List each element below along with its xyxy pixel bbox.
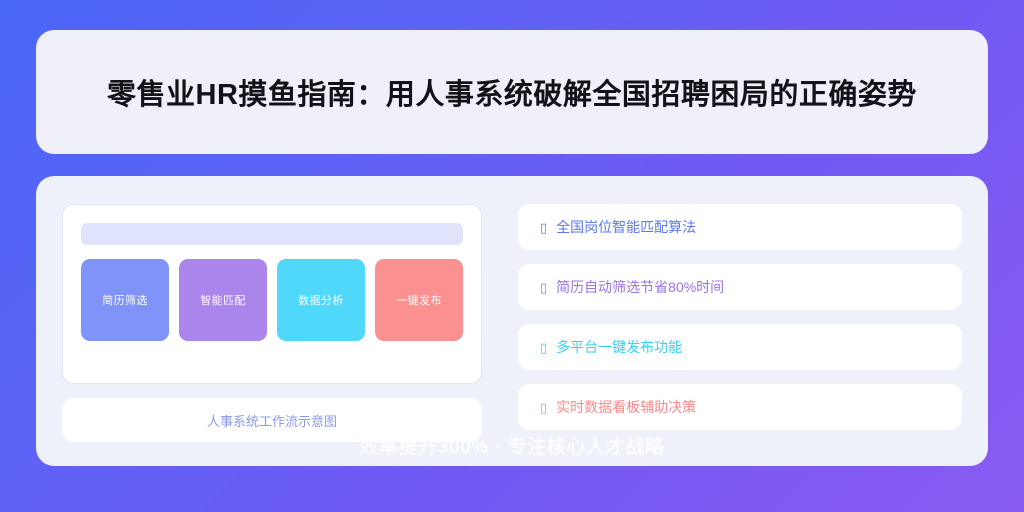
title-card: 零售业HR摸鱼指南：用人事系统破解全国招聘困局的正确姿势 (36, 30, 988, 154)
workflow-step[interactable]: 一键发布 (375, 259, 463, 341)
feature-list-item[interactable]: ▯ 实时数据看板辅助决策 (518, 384, 962, 430)
feature-list-item[interactable]: ▯ 全国岗位智能匹配算法 (518, 204, 962, 250)
bullet-icon: ▯ (540, 281, 547, 294)
diagram-caption: 人事系统工作流示意图 (207, 411, 337, 430)
workflow-step[interactable]: 智能匹配 (179, 259, 267, 341)
workflow-step-row: 简历筛选 智能匹配 数据分析 一键发布 (81, 259, 463, 341)
feature-list-item[interactable]: ▯ 多平台一键发布功能 (518, 324, 962, 370)
content-card: 简历筛选 智能匹配 数据分析 一键发布 人事系统工作流示意图 (36, 176, 988, 466)
workflow-step-label: 数据分析 (298, 292, 344, 308)
workflow-step-label: 智能匹配 (200, 292, 246, 308)
feature-list-panel: ▯ 全国岗位智能匹配算法 ▯ 简历自动筛选节省80%时间 ▯ 多平台一键发布功能… (516, 176, 988, 466)
page-title: 零售业HR摸鱼指南：用人事系统破解全国招聘困局的正确姿势 (107, 71, 917, 113)
workflow-step-label: 简历筛选 (102, 292, 148, 308)
diagram-caption-card: 人事系统工作流示意图 (62, 398, 482, 442)
feature-label: 实时数据看板辅助决策 (556, 397, 696, 417)
workflow-step-label: 一键发布 (396, 292, 442, 308)
feature-label: 简历自动筛选节省80%时间 (556, 277, 724, 297)
feature-label: 多平台一键发布功能 (556, 337, 682, 357)
bullet-icon: ▯ (540, 221, 547, 234)
workflow-step[interactable]: 简历筛选 (81, 259, 169, 341)
workflow-panel: 简历筛选 智能匹配 数据分析 一键发布 人事系统工作流示意图 (36, 176, 508, 466)
bullet-icon: ▯ (540, 401, 547, 414)
bullet-icon: ▯ (540, 341, 547, 354)
feature-label: 全国岗位智能匹配算法 (556, 217, 696, 237)
panels-container: 简历筛选 智能匹配 数据分析 一键发布 人事系统工作流示意图 (36, 176, 988, 466)
diagram-header-placeholder (81, 223, 463, 245)
workflow-diagram: 简历筛选 智能匹配 数据分析 一键发布 (62, 204, 482, 384)
feature-list-item[interactable]: ▯ 简历自动筛选节省80%时间 (518, 264, 962, 310)
workflow-step[interactable]: 数据分析 (277, 259, 365, 341)
